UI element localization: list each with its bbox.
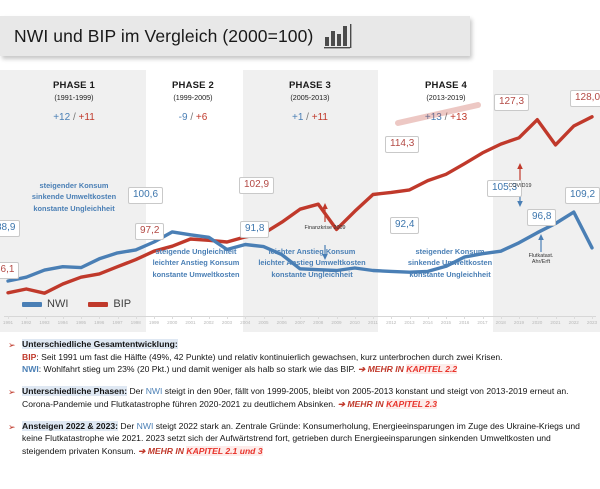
flut-line-2: Ahr/Erft [529, 259, 554, 265]
axis-tick [264, 316, 265, 319]
bullet-body: Unterschiedliche Gesamtentwicklung: BIP:… [22, 338, 503, 376]
bullet-list: ➢ Unterschiedliche Gesamtentwicklung: BI… [0, 338, 600, 467]
ref-prefix: MEHR IN [148, 446, 187, 456]
axis-year-label: 2005 [258, 320, 268, 325]
bullet-heading: Unterschiedliche Phasen: [22, 386, 127, 396]
axis-year-label: 1993 [39, 320, 49, 325]
bullet-heading: Ansteigen 2022 & 2023: [22, 421, 118, 431]
callout-nwi-2023: 109,2 [565, 187, 600, 204]
axis-tick [26, 316, 27, 319]
axis-tick [592, 316, 593, 319]
axis-year-label: 2004 [240, 320, 250, 325]
bullet-text: Der [127, 386, 146, 396]
axis-tick [63, 316, 64, 319]
chapter-link[interactable]: KAPITEL 2.2 [406, 364, 457, 374]
callout-nwi-1991: 88,9 [0, 220, 20, 237]
callout-bip-2015: 114,3 [385, 136, 419, 153]
ref-prefix: MEHR IN [347, 399, 386, 409]
bullet-marker: ➢ [8, 338, 22, 376]
axis-year-label: 2013 [404, 320, 414, 325]
bullet-heading: Unterschiedliche Gesamtentwicklung: [22, 339, 178, 349]
axis-tick [118, 316, 119, 319]
axis-year-label: 2003 [222, 320, 232, 325]
bip-trend-ghost [398, 105, 478, 123]
ref-arrow-icon: ➔ [358, 364, 368, 374]
bullet-body: Unterschiedliche Phasen: Der NWI steigt … [22, 385, 588, 410]
axis-tick [373, 316, 374, 319]
bullet-item-2: ➢ Unterschiedliche Phasen: Der NWI steig… [0, 385, 600, 410]
axis-tick [45, 316, 46, 319]
axis-tick [428, 316, 429, 319]
axis-year-label: 1995 [76, 320, 86, 325]
axis-year-label: 2011 [368, 320, 378, 325]
annotation-covid19: COVID19 [508, 183, 531, 189]
axis-tick [209, 316, 210, 319]
axis-tick [464, 316, 465, 319]
axis-year-label: 2001 [185, 320, 195, 325]
legend-swatch-nwi [22, 302, 42, 307]
legend-label-nwi: NWI [47, 298, 68, 310]
axis-year-label: 1994 [58, 320, 68, 325]
axis-tick [519, 316, 520, 319]
desc-line: leichter Anstieg Umweltkosten [250, 257, 374, 268]
chart-x-axis: 1991199219931994199519961997199819992000… [0, 316, 600, 332]
axis-year-label: 1992 [21, 320, 31, 325]
bip-label: BIP [22, 352, 36, 362]
annotation-flutkatastrophe: Flutkatast. Ahr/Erft [529, 253, 554, 265]
axis-year-label: 2018 [496, 320, 506, 325]
annotation-finanzkrise: Finanzkrise 2009 [304, 225, 345, 231]
axis-tick [154, 316, 155, 319]
legend-label-bip: BIP [113, 298, 131, 310]
axis-tick [282, 316, 283, 319]
axis-tick [410, 316, 411, 319]
axis-tick [81, 316, 82, 319]
callout-bip-1991: 86,1 [0, 262, 19, 279]
axis-tick [574, 316, 575, 319]
desc-line: konstante Ungleichheit [396, 269, 504, 280]
axis-tick [136, 316, 137, 319]
axis-tick [318, 316, 319, 319]
axis-year-label: 2016 [459, 320, 469, 325]
axis-tick [300, 316, 301, 319]
desc-line: konstante Umweltkosten [148, 269, 244, 280]
callout-bip-2006: 102,9 [239, 177, 274, 194]
axis-tick [446, 316, 447, 319]
bar-chart-icon [323, 23, 357, 49]
desc-line: steigende Ungleichheit [148, 246, 244, 257]
nwi-label: NWI [22, 364, 39, 374]
callout-bip-2020: 127,3 [494, 94, 529, 111]
phase-desc-3: leichter Anstieg Konsum leichter Anstieg… [250, 246, 374, 280]
bullet-text: Der [118, 421, 137, 431]
chapter-link[interactable]: KAPITEL 2.1 und 3 [186, 446, 262, 456]
desc-line: steigender Konsum [10, 180, 138, 191]
axis-year-label: 2021 [550, 320, 560, 325]
axis-tick [337, 316, 338, 319]
legend-swatch-bip [88, 302, 108, 307]
bullet-marker: ➢ [8, 385, 22, 410]
axis-tick [355, 316, 356, 319]
flutkatastrophe-arrow-icon [538, 234, 544, 252]
ref-prefix: MEHR IN [368, 364, 407, 374]
callout-bip-2023: 128,0 [570, 90, 600, 107]
axis-tick [537, 316, 538, 319]
bullet-marker: ➢ [8, 420, 22, 458]
slide-title-bar: NWI und BIP im Vergleich (2000=100) [0, 16, 470, 56]
axis-year-label: 2000 [167, 320, 177, 325]
callout-nwi-2007: 91,8 [240, 221, 269, 238]
axis-tick [391, 316, 392, 319]
bullet-body: Ansteigen 2022 & 2023: Der NWI steigt 20… [22, 420, 588, 458]
desc-line: leichter Anstieg Konsum [250, 246, 374, 257]
ref-arrow-icon: ➔ [338, 399, 348, 409]
bullet-text: : Wohlfahrt stieg um 23% (20 Pkt.) und d… [39, 364, 358, 374]
axis-tick [245, 316, 246, 319]
axis-year-label: 2015 [441, 320, 451, 325]
axis-year-label: 2023 [587, 320, 597, 325]
axis-year-label: 2002 [204, 320, 214, 325]
desc-line: konstante Ungleichheit [250, 269, 374, 280]
axis-tick [556, 316, 557, 319]
axis-tick [99, 316, 100, 319]
axis-year-label: 2008 [313, 320, 323, 325]
axis-tick [483, 316, 484, 319]
axis-tick [172, 316, 173, 319]
callout-bip-2000: 97,2 [135, 223, 164, 240]
chapter-link[interactable]: KAPITEL 2.3 [386, 399, 437, 409]
legend-item-nwi[interactable]: NWI [22, 298, 68, 310]
bullet-text: : Seit 1991 um fast die Hälfte (49%, 42 … [36, 352, 502, 362]
chart-panel: PHASE 1 (1991-1999) +12 / +11 PHASE 2 (1… [0, 70, 600, 332]
ref-arrow-icon: ➔ [138, 446, 148, 456]
desc-line: leichter Anstieg Konsum [148, 257, 244, 268]
desc-line: steigender Konsum [396, 246, 504, 257]
desc-line: sinkende Umweltkosten [10, 191, 138, 202]
axis-year-label: 2012 [386, 320, 396, 325]
axis-year-label: 2007 [295, 320, 305, 325]
desc-line: konstante Ungleichheit [10, 203, 138, 214]
axis-year-label: 2010 [350, 320, 360, 325]
axis-tick [227, 316, 228, 319]
axis-tick [191, 316, 192, 319]
axis-year-label: 2006 [277, 320, 287, 325]
axis-year-label: 2019 [514, 320, 524, 325]
axis-tick [501, 316, 502, 319]
axis-year-label: 2014 [423, 320, 433, 325]
axis-year-label: 1997 [112, 320, 122, 325]
phase-desc-4: steigender Konsum sinkende Umweltkosten … [396, 246, 504, 280]
phase-desc-1: steigender Konsum sinkende Umweltkosten … [10, 180, 138, 214]
desc-line: sinkende Umweltkosten [396, 257, 504, 268]
nwi-inline-label: NWI [137, 421, 154, 431]
callout-nwi-2015: 92,4 [390, 217, 419, 234]
axis-year-label: 2022 [569, 320, 579, 325]
phase-desc-2: steigende Ungleichheit leichter Anstieg … [148, 246, 244, 280]
axis-year-label: 1998 [131, 320, 141, 325]
bullet-item-1: ➢ Unterschiedliche Gesamtentwicklung: BI… [0, 338, 600, 376]
callout-nwi-2021: 96,8 [527, 209, 556, 226]
axis-year-label: 2009 [331, 320, 341, 325]
chart-legend: NWI BIP [22, 298, 131, 310]
legend-item-bip[interactable]: BIP [88, 298, 131, 310]
axis-year-label: 1999 [149, 320, 159, 325]
page-title: NWI und BIP im Vergleich (2000=100) [0, 26, 313, 47]
axis-tick [8, 316, 9, 319]
bullet-item-3: ➢ Ansteigen 2022 & 2023: Der NWI steigt … [0, 420, 600, 458]
nwi-inline-label: NWI [146, 386, 163, 396]
axis-year-label: 1991 [3, 320, 13, 325]
axis-year-label: 1996 [94, 320, 104, 325]
axis-year-label: 2017 [477, 320, 487, 325]
axis-year-label: 2020 [532, 320, 542, 325]
